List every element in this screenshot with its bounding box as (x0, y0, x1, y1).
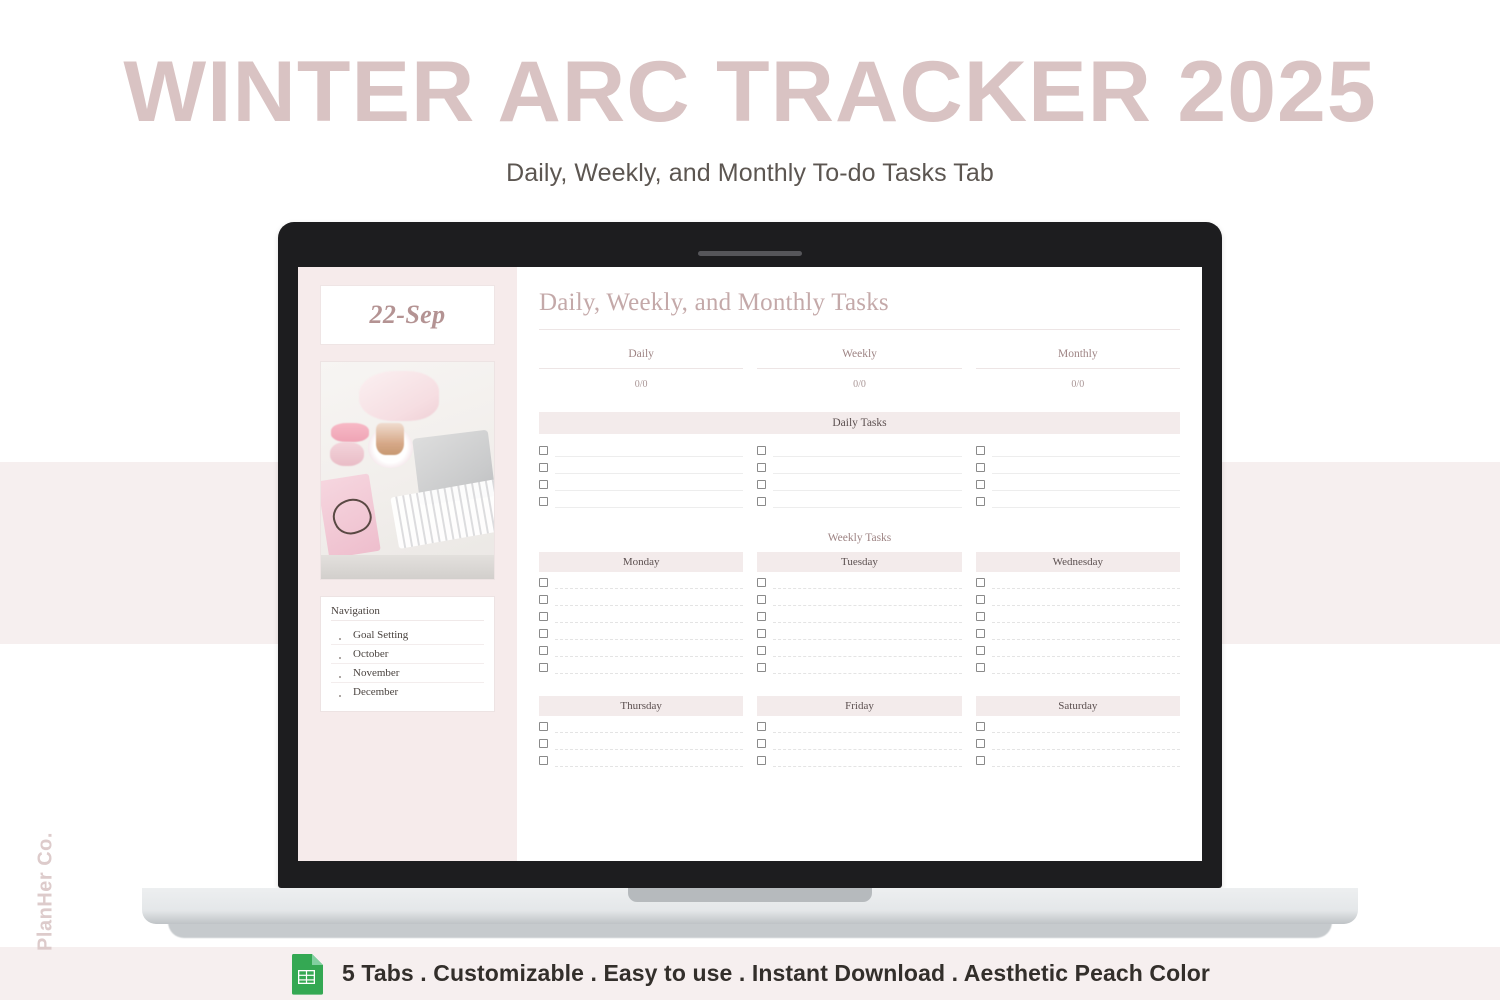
task-checkbox[interactable] (539, 756, 548, 765)
task-row (757, 718, 961, 735)
task-checkbox[interactable] (539, 663, 548, 672)
weekly-task-column-monday: Monday (539, 552, 743, 676)
task-input-line[interactable] (773, 576, 961, 589)
task-row (539, 735, 743, 752)
summary-value-daily: 0/0 (539, 369, 743, 390)
task-row (976, 735, 1180, 752)
task-input-line[interactable] (555, 627, 743, 640)
task-row (976, 442, 1180, 459)
task-row (757, 625, 961, 642)
task-row (757, 642, 961, 659)
task-input-line[interactable] (773, 461, 961, 474)
task-input-line[interactable] (555, 593, 743, 606)
task-checkbox[interactable] (539, 463, 548, 472)
task-checkbox[interactable] (976, 446, 985, 455)
task-row (757, 752, 961, 769)
task-checkbox[interactable] (976, 595, 985, 604)
task-row (539, 476, 743, 493)
task-row (539, 642, 743, 659)
task-checkbox[interactable] (539, 497, 548, 506)
weekly-task-column-thursday: Thursday (539, 696, 743, 769)
task-row (976, 752, 1180, 769)
task-row (757, 591, 961, 608)
task-row (539, 625, 743, 642)
photo-macarons-pale (330, 442, 365, 466)
task-row (757, 608, 961, 625)
summary-value-weekly: 0/0 (757, 369, 961, 390)
task-row (539, 493, 743, 510)
task-row (976, 459, 1180, 476)
task-input-line[interactable] (555, 661, 743, 674)
day-header-saturday: Saturday (976, 696, 1180, 716)
task-input-line[interactable] (992, 461, 1180, 474)
task-checkbox[interactable] (539, 480, 548, 489)
task-row (757, 442, 961, 459)
photo-desk-edge (321, 555, 494, 579)
task-checkbox[interactable] (757, 663, 766, 672)
daily-tasks-bar: Daily Tasks (539, 412, 1180, 434)
task-input-line[interactable] (992, 495, 1180, 508)
task-input-line[interactable] (992, 478, 1180, 491)
navigation-box: Navigation Goal Setting October November… (320, 596, 495, 712)
summary-row: Daily 0/0 Weekly 0/0 Monthly 0/0 (539, 348, 1180, 390)
date-card[interactable]: 22-Sep (320, 285, 495, 345)
weekly-task-grid-row2: Thursday Friday Saturday (539, 696, 1180, 769)
task-row (757, 476, 961, 493)
daily-task-grid (539, 442, 1180, 510)
navigation-list: Goal Setting October November December (331, 626, 484, 701)
task-checkbox[interactable] (539, 612, 548, 621)
summary-value-monthly: 0/0 (976, 369, 1180, 390)
task-row (976, 659, 1180, 676)
task-checkbox[interactable] (976, 646, 985, 655)
task-checkbox[interactable] (976, 612, 985, 621)
task-input-line[interactable] (773, 720, 961, 733)
sidebar-item-goal-setting[interactable]: Goal Setting (331, 626, 484, 645)
task-checkbox[interactable] (539, 646, 548, 655)
task-row (757, 735, 961, 752)
page-title: WINTER ARC TRACKER 2025 (0, 48, 1500, 137)
daily-task-column-2 (757, 442, 961, 510)
task-checkbox[interactable] (976, 497, 985, 506)
task-input-line[interactable] (773, 610, 961, 623)
sheet-title: Daily, Weekly, and Monthly Tasks (539, 289, 1180, 330)
page-subtitle: Daily, Weekly, and Monthly To-do Tasks T… (0, 159, 1500, 188)
task-input-line[interactable] (773, 661, 961, 674)
task-row (539, 459, 743, 476)
laptop-screen: 22-Sep Navigation (298, 267, 1202, 861)
task-checkbox[interactable] (976, 463, 985, 472)
weekly-task-column-tuesday: Tuesday (757, 552, 961, 676)
task-checkbox[interactable] (757, 463, 766, 472)
google-sheets-icon (290, 953, 324, 995)
laptop-lid: 22-Sep Navigation (278, 222, 1222, 888)
task-checkbox[interactable] (976, 629, 985, 638)
task-checkbox[interactable] (757, 595, 766, 604)
task-input-line[interactable] (992, 444, 1180, 457)
weekly-task-column-saturday: Saturday (976, 696, 1180, 769)
task-input-line[interactable] (555, 478, 743, 491)
task-input-line[interactable] (992, 576, 1180, 589)
photo-coffee-cup (376, 423, 404, 456)
task-checkbox[interactable] (539, 578, 548, 587)
task-row (976, 642, 1180, 659)
task-checkbox[interactable] (976, 739, 985, 748)
task-row (539, 574, 743, 591)
task-input-line[interactable] (555, 495, 743, 508)
task-checkbox[interactable] (757, 722, 766, 731)
task-input-line[interactable] (773, 644, 961, 657)
task-input-line[interactable] (555, 737, 743, 750)
task-checkbox[interactable] (539, 595, 548, 604)
summary-cell-monthly: Monthly 0/0 (976, 348, 1180, 390)
navigation-title: Navigation (331, 605, 484, 621)
task-checkbox[interactable] (976, 578, 985, 587)
photo-macarons (331, 423, 369, 443)
task-row (976, 476, 1180, 493)
footer-bar: 5 Tabs . Customizable . Easy to use . In… (0, 947, 1500, 1000)
laptop-base (142, 888, 1358, 924)
task-row (976, 718, 1180, 735)
task-input-line[interactable] (555, 610, 743, 623)
weekly-task-grid-row1: Monday Tuesday Wednesday (539, 552, 1180, 676)
laptop-foot-shadow (168, 922, 1332, 938)
task-input-line[interactable] (992, 644, 1180, 657)
task-input-line[interactable] (773, 478, 961, 491)
task-row (976, 493, 1180, 510)
task-input-line[interactable] (773, 754, 961, 767)
task-input-line[interactable] (555, 754, 743, 767)
task-checkbox[interactable] (757, 497, 766, 506)
task-row (976, 608, 1180, 625)
daily-task-column-3 (976, 442, 1180, 510)
task-checkbox[interactable] (757, 739, 766, 748)
sidebar-item-october[interactable]: October (331, 645, 484, 664)
day-header-thursday: Thursday (539, 696, 743, 716)
task-input-line[interactable] (555, 644, 743, 657)
spreadsheet-sidebar: 22-Sep Navigation (298, 267, 517, 861)
task-checkbox[interactable] (757, 446, 766, 455)
spreadsheet-main: Daily, Weekly, and Monthly Tasks Daily 0… (517, 267, 1202, 861)
date-label: 22-Sep (369, 300, 445, 330)
task-checkbox[interactable] (757, 480, 766, 489)
sidebar-photo (320, 361, 495, 580)
summary-label-monthly: Monthly (976, 348, 1180, 369)
weekly-task-column-wednesday: Wednesday (976, 552, 1180, 676)
task-input-line[interactable] (773, 495, 961, 508)
task-input-line[interactable] (773, 627, 961, 640)
task-checkbox[interactable] (539, 446, 548, 455)
photo-knit-blanket (359, 371, 439, 421)
task-input-line[interactable] (992, 661, 1180, 674)
weekly-tasks-label: Weekly Tasks (539, 532, 1180, 544)
task-checkbox[interactable] (757, 646, 766, 655)
task-input-line[interactable] (992, 720, 1180, 733)
task-input-line[interactable] (992, 737, 1180, 750)
day-header-monday: Monday (539, 552, 743, 572)
summary-cell-daily: Daily 0/0 (539, 348, 743, 390)
daily-task-column-1 (539, 442, 743, 510)
task-checkbox[interactable] (539, 722, 548, 731)
task-checkbox[interactable] (757, 578, 766, 587)
task-input-line[interactable] (992, 754, 1180, 767)
task-checkbox[interactable] (976, 756, 985, 765)
task-row (757, 493, 961, 510)
sidebar-item-november[interactable]: November (331, 664, 484, 683)
task-checkbox[interactable] (539, 629, 548, 638)
task-row (757, 459, 961, 476)
task-checkbox[interactable] (976, 663, 985, 672)
task-input-line[interactable] (555, 444, 743, 457)
day-header-wednesday: Wednesday (976, 552, 1180, 572)
day-header-friday: Friday (757, 696, 961, 716)
weekly-task-column-friday: Friday (757, 696, 961, 769)
footer-text: 5 Tabs . Customizable . Easy to use . In… (342, 960, 1210, 987)
task-row (539, 442, 743, 459)
task-input-line[interactable] (773, 737, 961, 750)
task-checkbox[interactable] (757, 756, 766, 765)
task-checkbox[interactable] (539, 739, 548, 748)
task-row (976, 591, 1180, 608)
task-checkbox[interactable] (976, 722, 985, 731)
task-checkbox[interactable] (976, 480, 985, 489)
task-row (976, 574, 1180, 591)
task-input-line[interactable] (773, 444, 961, 457)
summary-label-daily: Daily (539, 348, 743, 369)
task-input-line[interactable] (773, 593, 961, 606)
camera-slot-icon (698, 251, 802, 256)
day-header-tuesday: Tuesday (757, 552, 961, 572)
task-input-line[interactable] (992, 610, 1180, 623)
task-input-line[interactable] (992, 593, 1180, 606)
task-input-line[interactable] (992, 627, 1180, 640)
page-header: WINTER ARC TRACKER 2025 Daily, Weekly, a… (0, 0, 1500, 188)
summary-cell-weekly: Weekly 0/0 (757, 348, 961, 390)
summary-label-weekly: Weekly (757, 348, 961, 369)
task-row (757, 659, 961, 676)
task-checkbox[interactable] (757, 612, 766, 621)
task-row (976, 625, 1180, 642)
sidebar-item-december[interactable]: December (331, 683, 484, 701)
task-row (539, 591, 743, 608)
task-input-line[interactable] (555, 720, 743, 733)
task-input-line[interactable] (555, 461, 743, 474)
task-row (539, 659, 743, 676)
task-row (539, 718, 743, 735)
task-input-line[interactable] (555, 576, 743, 589)
laptop-mockup: 22-Sep Navigation (278, 222, 1222, 888)
task-row (539, 608, 743, 625)
task-row (539, 752, 743, 769)
task-row (757, 574, 961, 591)
task-checkbox[interactable] (757, 629, 766, 638)
